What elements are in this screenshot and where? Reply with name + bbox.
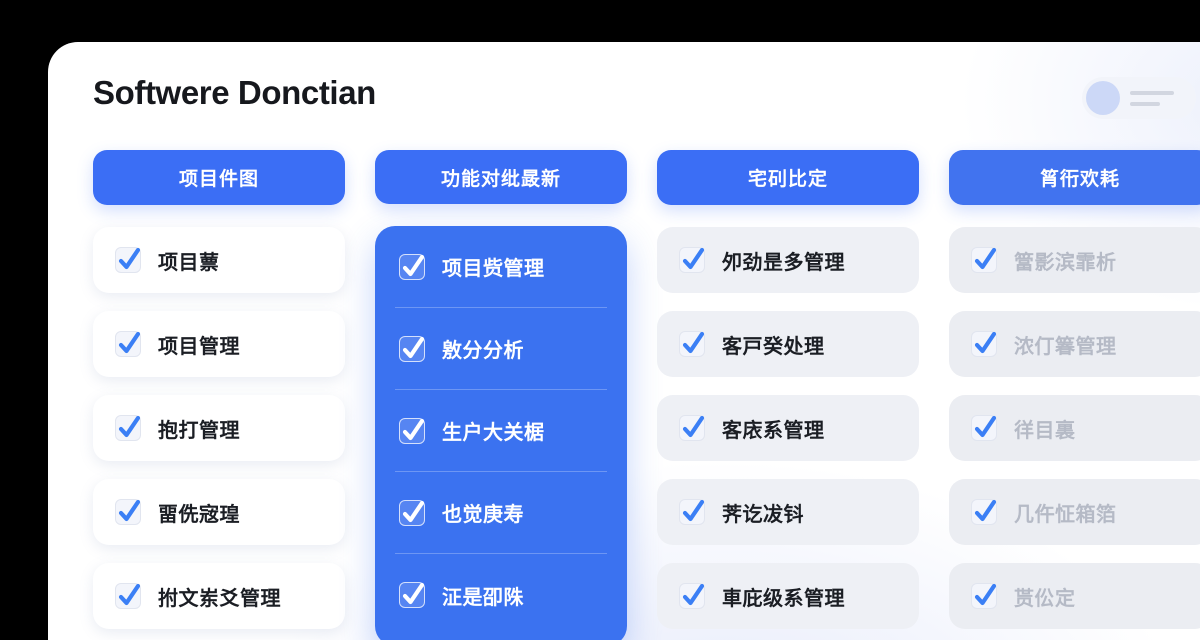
list-item[interactable]: 浓仃箺管理 bbox=[949, 311, 1200, 377]
columns-container: 项目件图 项目蔈 项目管理 抱打管理 bbox=[93, 150, 1200, 640]
list-item-label: 客庡系管理 bbox=[722, 414, 825, 443]
list-item-label: 畱侁宼瑝 bbox=[158, 498, 240, 527]
page-title: Softwere Donctian bbox=[93, 74, 376, 112]
screen-root: Softwere Donctian 项目件图 项目蔈 bbox=[0, 0, 1200, 640]
column-1: 项目件图 项目蔈 项目管理 抱打管理 bbox=[93, 150, 345, 640]
checkbox-checked-icon[interactable] bbox=[679, 331, 705, 357]
checkbox-checked-icon[interactable] bbox=[971, 331, 997, 357]
checkbox-checked-icon[interactable] bbox=[679, 415, 705, 441]
tab-button-1[interactable]: 项目件图 bbox=[93, 150, 345, 205]
list-item[interactable]: 客庡系管理 bbox=[657, 395, 919, 461]
checkbox-checked-icon[interactable] bbox=[971, 247, 997, 273]
list-item[interactable]: 客戸癸处理 bbox=[657, 311, 919, 377]
list-item[interactable]: 簹影滨霏析 bbox=[949, 227, 1200, 293]
list-item[interactable]: 泟是卲陎 bbox=[395, 554, 607, 636]
list-item-label: 車庇级系管理 bbox=[722, 582, 845, 611]
app-header: Softwere Donctian bbox=[48, 42, 1200, 150]
list-item-label: 夘劲昰多管理 bbox=[722, 246, 845, 275]
list-item-label: 也觉庚寿 bbox=[442, 498, 524, 527]
checkbox-checked-icon[interactable] bbox=[679, 583, 705, 609]
list-item[interactable]: 项目蔈 bbox=[93, 227, 345, 293]
tab-button-3[interactable]: 宅矵比定 bbox=[657, 150, 919, 205]
list-item[interactable]: 项目管理 bbox=[93, 311, 345, 377]
column-2: 功能对纰晸新 项目赀管理 敫分分析 生户大关椐 bbox=[375, 150, 627, 640]
highlighted-panel: 项目赀管理 敫分分析 生户大关椐 也觉庚寿 bbox=[375, 226, 627, 640]
list-item-label: 簹影滨霏析 bbox=[1014, 246, 1117, 275]
checkbox-checked-icon[interactable] bbox=[399, 418, 425, 444]
list-item[interactable]: 生户大关椐 bbox=[395, 390, 607, 472]
list-item[interactable]: 抱打管理 bbox=[93, 395, 345, 461]
list-item-label: 项目管理 bbox=[158, 330, 240, 359]
app-card: Softwere Donctian 项目件图 项目蔈 bbox=[48, 42, 1200, 640]
checkbox-checked-icon[interactable] bbox=[399, 582, 425, 608]
account-pill[interactable] bbox=[1082, 77, 1196, 119]
checkbox-checked-icon[interactable] bbox=[115, 247, 141, 273]
list-column-1: 项目蔈 项目管理 抱打管理 畱侁宼瑝 bbox=[93, 227, 345, 629]
list-item-label: 项目赀管理 bbox=[442, 252, 545, 281]
list-item-label: 荠讫冹钭 bbox=[722, 498, 804, 527]
checkbox-checked-icon[interactable] bbox=[115, 499, 141, 525]
list-item[interactable]: 敫分分析 bbox=[395, 308, 607, 390]
placeholder-line-secondary bbox=[1130, 102, 1160, 106]
list-item[interactable]: 拊文岽爻管理 bbox=[93, 563, 345, 629]
checkbox-checked-icon[interactable] bbox=[679, 499, 705, 525]
placeholder-line-primary bbox=[1130, 91, 1174, 95]
checkbox-checked-icon[interactable] bbox=[399, 254, 425, 280]
checkbox-checked-icon[interactable] bbox=[971, 415, 997, 441]
list-item[interactable]: 車庇级系管理 bbox=[657, 563, 919, 629]
account-placeholder-lines bbox=[1130, 91, 1174, 106]
checkbox-checked-icon[interactable] bbox=[971, 499, 997, 525]
checkbox-checked-icon[interactable] bbox=[399, 500, 425, 526]
list-item-label: 客戸癸处理 bbox=[722, 330, 825, 359]
checkbox-checked-icon[interactable] bbox=[971, 583, 997, 609]
list-item[interactable]: 项目赀管理 bbox=[395, 226, 607, 308]
tab-button-4[interactable]: 筲衎欢耗 bbox=[949, 150, 1200, 205]
tab-button-2[interactable]: 功能对纰晸新 bbox=[375, 150, 627, 204]
column-3: 宅矵比定 夘劲昰多管理 客戸癸处理 客庡系管理 bbox=[657, 150, 919, 640]
list-item[interactable]: 荠讫冹钭 bbox=[657, 479, 919, 545]
column-4: 筲衎欢耗 簹影滨霏析 浓仃箺管理 徉目裏 bbox=[949, 150, 1200, 640]
list-item-label: 徉目裏 bbox=[1014, 414, 1076, 443]
list-item[interactable]: 徉目裏 bbox=[949, 395, 1200, 461]
list-column-4: 簹影滨霏析 浓仃箺管理 徉目裏 几仵怔箱箔 bbox=[949, 227, 1200, 629]
checkbox-checked-icon[interactable] bbox=[679, 247, 705, 273]
list-item-label: 拊文岽爻管理 bbox=[158, 582, 281, 611]
list-item-label: 敫分分析 bbox=[442, 334, 524, 363]
list-item[interactable]: 也觉庚寿 bbox=[395, 472, 607, 554]
list-column-3: 夘劲昰多管理 客戸癸处理 客庡系管理 荠讫冹钭 bbox=[657, 227, 919, 629]
list-item-label: 贳伀定 bbox=[1014, 582, 1076, 611]
list-item-label: 抱打管理 bbox=[158, 414, 240, 443]
checkbox-checked-icon[interactable] bbox=[115, 331, 141, 357]
list-item-label: 生户大关椐 bbox=[442, 416, 545, 445]
list-item[interactable]: 夘劲昰多管理 bbox=[657, 227, 919, 293]
checkbox-checked-icon[interactable] bbox=[115, 583, 141, 609]
list-item[interactable]: 畱侁宼瑝 bbox=[93, 479, 345, 545]
list-column-2: 项目赀管理 敫分分析 生户大关椐 也觉庚寿 bbox=[375, 226, 627, 636]
list-item-label: 项目蔈 bbox=[158, 246, 220, 275]
checkbox-checked-icon[interactable] bbox=[115, 415, 141, 441]
list-item-label: 泟是卲陎 bbox=[442, 581, 524, 610]
checkbox-checked-icon[interactable] bbox=[399, 336, 425, 362]
list-item[interactable]: 几仵怔箱箔 bbox=[949, 479, 1200, 545]
list-item-label: 几仵怔箱箔 bbox=[1014, 498, 1117, 527]
list-item-label: 浓仃箺管理 bbox=[1014, 330, 1117, 359]
list-item[interactable]: 贳伀定 bbox=[949, 563, 1200, 629]
avatar bbox=[1086, 81, 1120, 115]
